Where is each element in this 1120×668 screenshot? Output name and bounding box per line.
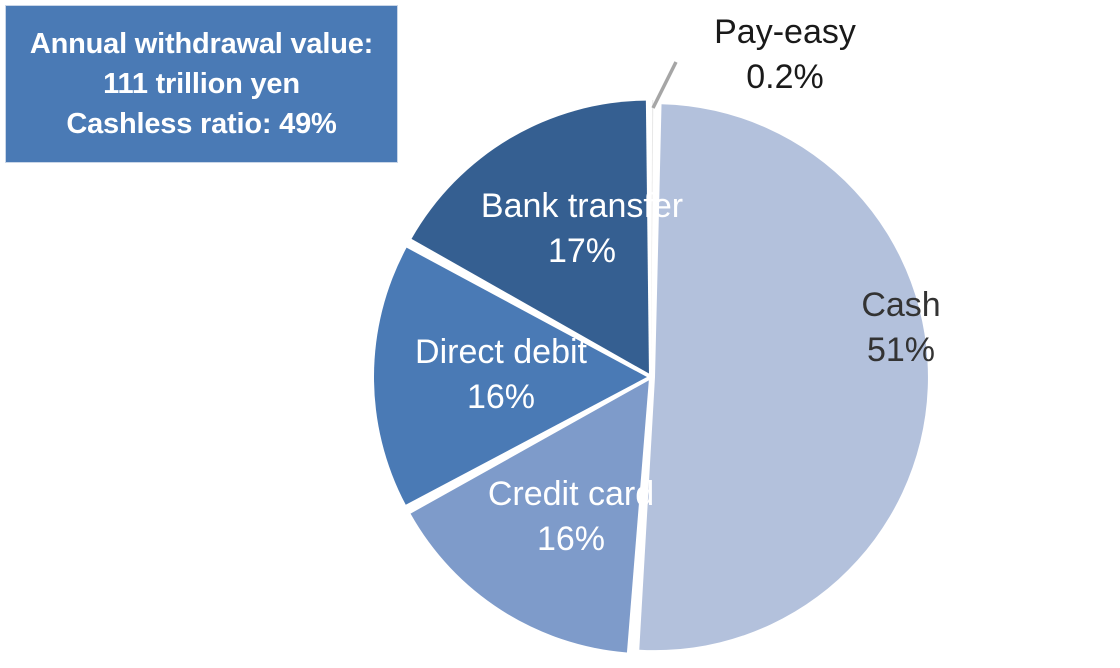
pie-slice-cash[interactable] <box>639 104 928 650</box>
pie-slice-group <box>374 100 928 652</box>
chart-canvas: Annual withdrawal value: 111 trillion ye… <box>0 0 1120 668</box>
pay-easy-leader-line <box>653 62 676 108</box>
pie-slice-pay-easy[interactable] <box>651 100 653 373</box>
pie-chart <box>0 0 1120 668</box>
